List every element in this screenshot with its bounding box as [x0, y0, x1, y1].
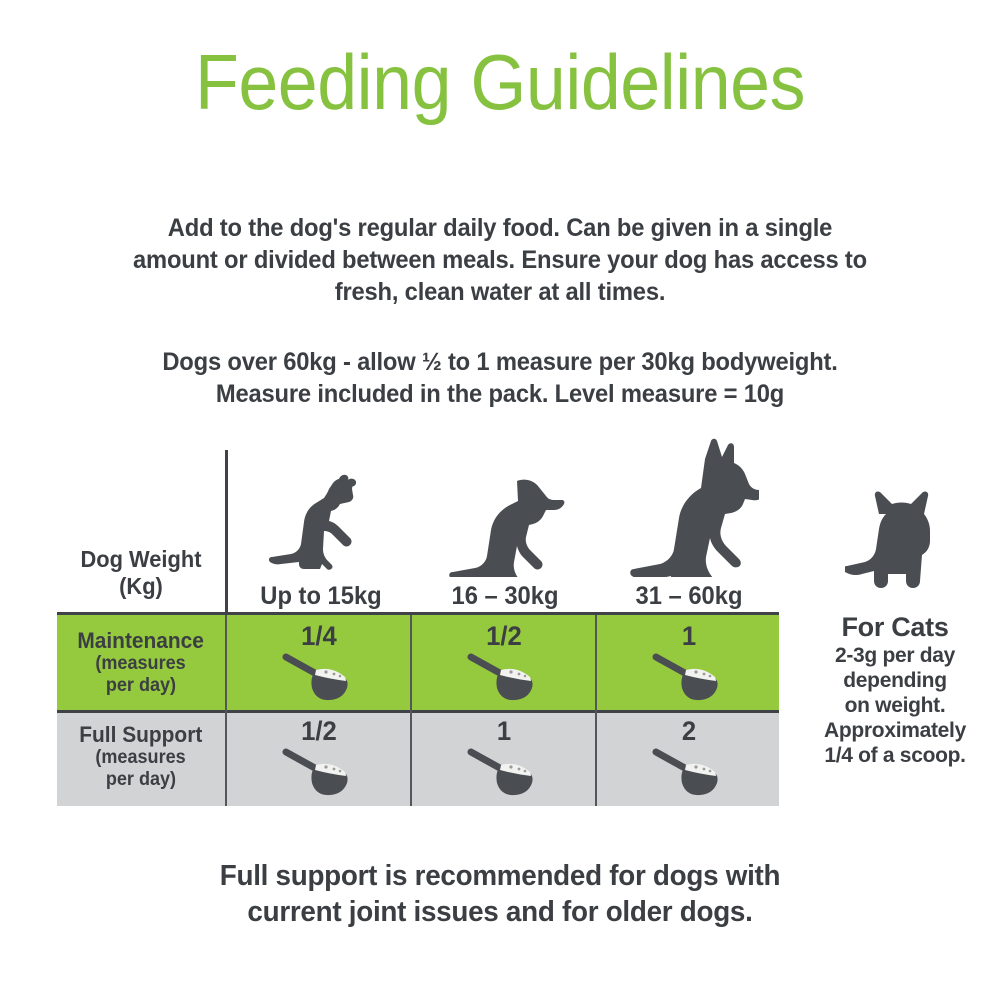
footer-note: Full support is recommended for dogs wit… [100, 858, 900, 930]
cell-maintenance-16-30kg: 1/2 [412, 615, 596, 710]
row-label-main: Full Support [79, 722, 202, 747]
cats-title: For Cats [795, 612, 995, 643]
cats-line: on weight. [795, 693, 995, 718]
column-label: 16 – 30kg [418, 582, 593, 611]
footer-line: current joint issues and for older dogs. [116, 894, 884, 930]
cats-line: Approximately [795, 718, 995, 743]
medium-dog-icon [413, 465, 597, 577]
dog-weight-header: Dog Weight (Kg) [61, 546, 221, 600]
column-label: 31 – 60kg [602, 582, 777, 611]
row-label-sub2: per day) [106, 769, 176, 791]
cell-divider-3 [595, 615, 597, 806]
small-dog-icon [229, 465, 413, 577]
cell-full-support-31-60kg: 2 [597, 710, 781, 803]
table-header: Dog Weight (Kg) Up to 15kg [57, 450, 779, 615]
scoop-icon [597, 645, 781, 707]
cat-icon [795, 455, 995, 600]
table-row-full-support: Full Support (measures per day) 1/2 1 [57, 710, 779, 803]
cell-maintenance-31-60kg: 1 [597, 615, 781, 710]
cell-divider-2 [410, 615, 412, 806]
column-label: Up to 15kg [234, 582, 409, 611]
page-title: Feeding Guidelines [40, 40, 960, 124]
scoop-icon [227, 740, 411, 802]
row-label-sub1: (measures [96, 653, 186, 675]
dog-weight-header-line2: (Kg) [61, 573, 221, 600]
intro-line: amount or divided between meals. Ensure … [111, 244, 890, 276]
large-dog-icon [597, 465, 781, 577]
cats-line: depending [795, 668, 995, 693]
row-label-sub2: per day) [106, 675, 176, 697]
scoop-icon [597, 740, 781, 802]
row-label-maintenance: Maintenance (measures per day) [57, 615, 225, 710]
row-label-main: Maintenance [78, 628, 205, 653]
row-label-sub1: (measures [96, 747, 186, 769]
dog-weight-header-line1: Dog Weight [61, 546, 221, 573]
intro-line: fresh, clean water at all times. [111, 276, 890, 308]
footer-line: Full support is recommended for dogs wit… [116, 858, 884, 894]
intro-paragraph-2: Dogs over 60kg - allow ½ to 1 measure pe… [90, 346, 910, 410]
scoop-icon [227, 645, 411, 707]
scoop-icon [412, 645, 596, 707]
cell-full-support-up-to-15kg: 1/2 [227, 710, 411, 803]
cell-maintenance-up-to-15kg: 1/4 [227, 615, 411, 710]
cats-panel: For Cats 2-3g per day depending on weigh… [795, 455, 995, 768]
column-header-31-60kg: 31 – 60kg [597, 450, 781, 615]
intro-paragraph-1: Add to the dog's regular daily food. Can… [90, 212, 910, 308]
cell-full-support-16-30kg: 1 [412, 710, 596, 803]
column-header-up-to-15kg: Up to 15kg [229, 450, 413, 615]
row-label-full-support: Full Support (measures per day) [57, 710, 225, 803]
column-header-16-30kg: 16 – 30kg [413, 450, 597, 615]
feeding-table: Dog Weight (Kg) Up to 15kg [57, 450, 779, 806]
intro-line: Dogs over 60kg - allow ½ to 1 measure pe… [111, 346, 890, 378]
cats-line: 1/4 of a scoop. [795, 743, 995, 768]
intro-line: Measure included in the pack. Level meas… [111, 378, 890, 410]
cell-divider-1 [225, 615, 227, 806]
table-row-maintenance: Maintenance (measures per day) 1/4 1/2 [57, 615, 779, 710]
header-vertical-divider [225, 450, 228, 615]
scoop-icon [412, 740, 596, 802]
intro-line: Add to the dog's regular daily food. Can… [111, 212, 890, 244]
cats-line: 2-3g per day [795, 643, 995, 668]
